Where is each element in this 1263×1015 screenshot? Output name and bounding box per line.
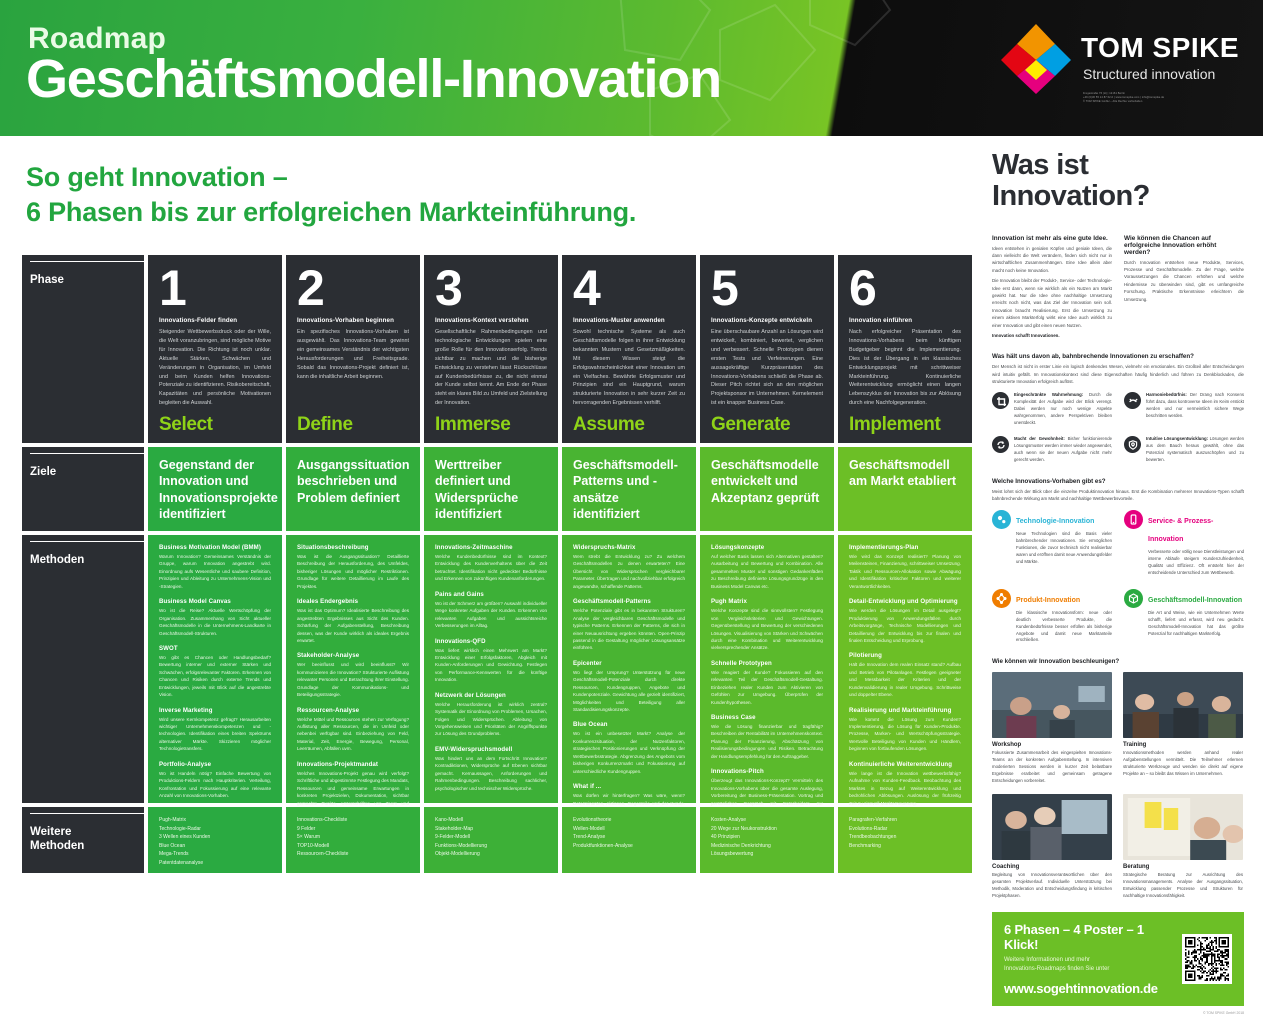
weitere-item: Lösungsbewertung (711, 850, 823, 859)
phase-keyword: Select (159, 414, 213, 436)
table-row-methoden: Methoden Business Motivation Model (BMM)… (22, 535, 972, 803)
service-photo (1123, 672, 1243, 738)
phase-keyword: Assume (573, 414, 645, 436)
innovation-type-name: Geschäftsmodell-Innovation (1148, 597, 1242, 604)
methoden-list: SituationsbeschreibungWas ist die Ausgan… (286, 535, 420, 803)
method-title: What if ... (573, 783, 685, 790)
cta-sub-line2: Innovations-Roadmaps finden Sie unter (1004, 965, 1172, 974)
methoden-list: Innovations-ZeitmaschineWelche Kundenbed… (424, 535, 558, 803)
method-description: Was ist die Ausgangssituation? Detaillie… (297, 553, 409, 590)
ziel-cell-5: Geschäftsmodelle entwickelt und Akzeptan… (700, 447, 834, 531)
method-item: Schnelle PrototypenWie reagiert der Kund… (711, 660, 823, 706)
method-title: Geschäftsmodell-Patterns (573, 598, 685, 605)
barrier-lead: Eingeschränkte Wahrnehmung: (1014, 392, 1083, 397)
innovation-type-description: Die Art und Weise, wie ein Unternehmen W… (1148, 610, 1244, 638)
method-description: Wem strebt die Entwicklung zu? Zu welche… (573, 553, 685, 590)
methoden-cell-4: Widerspruchs-MatrixWem strebt die Entwic… (562, 535, 696, 803)
phase-description: Nach erfolgreicher Präsentation des Inno… (849, 328, 961, 408)
qr-code-icon[interactable] (1182, 934, 1232, 984)
method-description: Welche Kundenbedürfnisse sind im Kontext… (435, 553, 547, 583)
weitere-item: Benchmarking (849, 842, 961, 851)
weitere-item: Patentdatenanalyse (159, 859, 271, 868)
services-grid: WorkshopFokussierte Zusammenarbeit des e… (992, 672, 1244, 900)
weitere-list: Paragrafen-VerfahrenEvolutions-RadarTren… (838, 807, 972, 873)
weitere-item: Mega-Trends (159, 850, 271, 859)
ziel-cell-2: Ausgangssituation beschrieben und Proble… (286, 447, 420, 531)
service-item: CoachingBegleitung von Innovationsverant… (992, 794, 1112, 900)
method-item: SituationsbeschreibungWas ist die Ausgan… (297, 544, 409, 590)
weitere-item: Produktfunktionen-Analyse (573, 842, 685, 851)
intro-two-column: Innovation ist mehr als eine gute Idee. … (992, 223, 1244, 340)
method-item: Portfolio-AnalyseWo ist Handeln nötig? E… (159, 761, 271, 800)
method-item: Ressourcen-AnalyseWelche Mittel und Ress… (297, 707, 409, 753)
copyright-text: © TOM SPIKE GmbH 2018 (992, 1011, 1244, 1015)
method-item: Innovations-ZeitmaschineWelche Kundenbed… (435, 544, 547, 583)
barrier-item: Intuitive Lösungsentwicklung: Lösungen w… (1124, 436, 1244, 464)
weitere-item: Trend-Analyse (573, 833, 685, 842)
cube-icon (1124, 589, 1143, 608)
barrier-text: Harmoniebedürfnis: Der Drang nach Konsen… (1146, 392, 1244, 427)
service-title: Training (1123, 742, 1243, 748)
method-title: Business Case (711, 714, 823, 721)
weitere-item: Kosten-Analyse (711, 816, 823, 825)
methoden-cell-2: SituationsbeschreibungWas ist die Ausgan… (286, 535, 420, 803)
weitere-item: Technologie-Radar (159, 825, 271, 834)
weitere-cell-4: EvolutionstheorieWellen-ModellTrend-Anal… (562, 807, 696, 873)
method-title: Pilotierung (849, 652, 961, 659)
shield-bulb-icon (1124, 436, 1141, 453)
methoden-cell-5: LösungskonzepteAuf welcher Basis lassen … (700, 535, 834, 803)
phase-cell-6: 6Innovation einführenNach erfolgreicher … (838, 255, 972, 443)
methoden-cell-3: Innovations-ZeitmaschineWelche Kundenbed… (424, 535, 558, 803)
method-title: Pugh Matrix (711, 598, 823, 605)
phase-keyword: Immerse (435, 414, 510, 436)
method-description: Was ist das Optimum? Idealisierte Beschr… (297, 607, 409, 644)
method-description: Was hindert uns an dem Fortschritt Innov… (435, 755, 547, 792)
service-item: WorkshopFokussierte Zusammenarbeit des e… (992, 672, 1112, 785)
weitere-item: 20 Wege zur Neukonstruktion (711, 825, 823, 834)
smile-face-icon (1124, 392, 1141, 409)
weitere-cell-2: Innovations-Checkliste9 Felder5× WarumTO… (286, 807, 420, 873)
method-description: Wie werden die Lösungen im Detail ausgel… (849, 607, 961, 644)
phase-cell-1: 1Innovations-Felder findenSteigender Wet… (148, 255, 282, 443)
method-description: Wo ist der Schmerz am größten? Auswahl i… (435, 600, 547, 630)
method-description: Wie lange ist die Innovation wettbewerbs… (849, 770, 961, 807)
method-title: Innovations-Zeitmaschine (435, 544, 547, 551)
service-description: Fokussierte Zusammenarbeit des eingespie… (992, 750, 1112, 785)
weitere-cell-5: Kosten-Analyse20 Wege zur Neukonstruktio… (700, 807, 834, 873)
phase-description: Steigender Wettbewerbsdruck oder der Wil… (159, 328, 271, 408)
table-row-weitere: Weitere Methoden Pugh-MatrixTechnologie-… (22, 807, 972, 873)
service-item: BeratungStrategische Beratung zur Ausric… (1123, 794, 1243, 900)
method-description: Welche Konzepte sind die sinnvollsten? F… (711, 607, 823, 652)
method-item: Pains and GainsWo ist der Schmerz am grö… (435, 591, 547, 630)
phase-subtitle: Innovations-Felder finden (159, 317, 271, 324)
barrier-text: Intuitive Lösungsentwicklung: Lösungen w… (1146, 436, 1244, 464)
molecule-icon (992, 589, 1011, 608)
cta-headline: 6 Phasen – 4 Poster – 1 Klick! (1004, 922, 1172, 952)
weitere-item: 40 Prinzipien (711, 833, 823, 842)
method-title: Realisierung und Markteinführung (849, 707, 961, 714)
brand-block: TOM SPIKE Structured innovation Fregestr… (999, 18, 1249, 126)
table-row-phase: Phase 1Innovations-Felder findenSteigend… (22, 255, 972, 443)
weitere-item: Evolutions-Radar (849, 825, 961, 834)
weitere-item: Funktions-Modellierung (435, 842, 547, 851)
phase-description: Ein spezifisches Innovations-Vorhaben is… (297, 328, 409, 381)
method-description: Warum Innovation? Gemeinsames Verständni… (159, 553, 271, 590)
method-title: Detail-Entwicklung und Optimierung (849, 598, 961, 605)
ziel-text: Geschäftsmodell am Markt etabliert (838, 447, 972, 531)
method-title: Portfolio-Analyse (159, 761, 271, 768)
innovation-type-name: Service- & Prozess-Innovation (1148, 518, 1213, 543)
table-row-ziele: Ziele Gegenstand der Innovation und Inno… (22, 447, 972, 531)
innovation-type-item: Service- & Prozess-InnovationVerbesserte… (1124, 510, 1244, 577)
weitere-list: Kosten-Analyse20 Wege zur Neukonstruktio… (700, 807, 834, 873)
method-description: Wie reagiert der Kunde? Fokussieren auf … (711, 669, 823, 706)
weitere-cell-3: Kano-ModellStakeholder-Map9-Felder-Model… (424, 807, 558, 873)
barrier-text: Eingeschränkte Wahrnehmung: Durch die Ko… (1014, 392, 1112, 427)
innovation-types-grid: Technologie-InnovationNeue Technologien … (992, 510, 1244, 645)
method-title: Business Model Canvas (159, 598, 271, 605)
phase-number: 4 (573, 265, 685, 311)
weitere-list: Pugh-MatrixTechnologie-Radar3 Wellen ein… (148, 807, 282, 873)
phase-number: 5 (711, 265, 823, 311)
row-label-phase: Phase (30, 261, 144, 295)
cta-url[interactable]: www.sogehtinnovation.de (1004, 981, 1172, 996)
method-title: Business Motivation Model (BMM) (159, 544, 271, 551)
method-description: Auf welcher Basis lassen sich Alternativ… (711, 553, 823, 590)
weitere-item: 5× Warum (297, 833, 409, 842)
weitere-item: TOP10-Modell (297, 842, 409, 851)
method-item: Pugh MatrixWelche Konzepte sind die sinn… (711, 598, 823, 652)
phase-subtitle: Innovations-Vorhaben beginnen (297, 317, 409, 324)
method-description: Wie kommt die Lösung zum Kunden? Impleme… (849, 716, 961, 753)
method-title: Ideales Endergebnis (297, 598, 409, 605)
method-item: LösungskonzepteAuf welcher Basis lassen … (711, 544, 823, 590)
method-item: EpicenterWo liegt der Ursprung? Unterstü… (573, 660, 685, 714)
method-item: Detail-Entwicklung und OptimierungWie we… (849, 598, 961, 644)
intro-left-p2: Die Innovation bleibt der Produkt-, Serv… (992, 277, 1112, 329)
ziele-cells: Gegenstand der Innovation und Innovation… (148, 447, 972, 531)
barrier-lead: Harmoniebedürfnis: (1146, 392, 1187, 397)
cta-banner[interactable]: 6 Phasen – 4 Poster – 1 Klick! Weitere I… (992, 912, 1244, 1006)
weitere-item: 3 Wellen eines Kunden (159, 833, 271, 842)
ziel-text: Ausgangssituation beschrieben und Proble… (286, 447, 420, 531)
ziel-text: Geschäftsmodelle entwickelt und Akzeptan… (700, 447, 834, 531)
method-title: Blue Ocean (573, 721, 685, 728)
ziel-cell-6: Geschäftsmodell am Markt etabliert (838, 447, 972, 531)
method-description: Wo ist die Reise? Aktuelle Wertschöpfung… (159, 607, 271, 637)
intro-left-heading: Innovation ist mehr als eine gute Idee. (992, 235, 1112, 242)
method-title: Widerspruchs-Matrix (573, 544, 685, 551)
method-title: Lösungskonzepte (711, 544, 823, 551)
gears-icon (992, 510, 1011, 529)
service-description: Begleitung von Innovationsverantwortlich… (992, 872, 1112, 900)
method-description: Wird unsere Kernkompetenz gefragt? Herau… (159, 716, 271, 753)
method-description: Welche Potenziale gibt es in bekannten S… (573, 607, 685, 652)
weitere-cell-1: Pugh-MatrixTechnologie-Radar3 Wellen ein… (148, 807, 282, 873)
innovation-type-item: Technologie-InnovationNeue Technologien … (992, 510, 1112, 577)
barriers-heading: Was hält uns davon ab, bahnbrechende Inn… (992, 353, 1244, 360)
service-title: Beratung (1123, 864, 1243, 870)
barriers-grid: Eingeschränkte Wahrnehmung: Durch die Ko… (992, 392, 1244, 464)
method-description: Wie wird das Konzept realisiert? Planung… (849, 553, 961, 590)
weitere-item: Evolutionstheorie (573, 816, 685, 825)
methoden-list: Implementierungs-PlanWie wird das Konzep… (838, 535, 972, 803)
service-description: Strategische Beratung zur Ausrichtung de… (1123, 872, 1243, 900)
weitere-item: 9-Felder-Modell (435, 833, 547, 842)
method-title: Innovations-Pitch (711, 768, 823, 775)
method-item: PilotierungHält die Innovation dem reale… (849, 652, 961, 698)
ziel-cell-3: Werttreiber definiert und Widersprüche i… (424, 447, 558, 531)
barrier-item: Harmoniebedürfnis: Der Drang nach Konsen… (1124, 392, 1244, 427)
method-item: Stakeholder-AnalyseWer beeinflusst und w… (297, 652, 409, 698)
service-title: Coaching (992, 864, 1112, 870)
method-description: Hält die Innovation dem realen Einsatz s… (849, 661, 961, 698)
method-item: Widerspruchs-MatrixWem strebt die Entwic… (573, 544, 685, 590)
method-item: Kontinuierliche WeiterentwicklungWie lan… (849, 761, 961, 807)
weitere-item: Blue Ocean (159, 842, 271, 851)
method-description: Wo ist Handeln nötig? Einfache Bewertung… (159, 770, 271, 800)
methoden-list: Widerspruchs-MatrixWem strebt die Entwic… (562, 535, 696, 803)
page-title: Geschäftsmodell-Innovation (26, 52, 721, 106)
types-intro: Meist lohnt sich der Blick über die einz… (992, 488, 1244, 503)
method-item: Inverse MarketingWird unsere Kernkompete… (159, 707, 271, 753)
weitere-list: EvolutionstheorieWellen-ModellTrend-Anal… (562, 807, 696, 873)
phase-cell-3: 3Innovations-Kontext verstehenGesellscha… (424, 255, 558, 443)
phase-number: 1 (159, 265, 271, 311)
innovation-type-name: Produkt-Innovation (1016, 597, 1080, 604)
method-title: EMV-Widerspruchsmodell (435, 746, 547, 753)
weitere-item: Medizinische Denkrichtung (711, 842, 823, 851)
intro-right-p: Durch Innovation entstehen neue Produkte… (1124, 259, 1244, 303)
barrier-item: Eingeschränkte Wahrnehmung: Durch die Ko… (992, 392, 1112, 427)
method-description: Welche Mittel und Ressourcen stehen zur … (297, 716, 409, 753)
method-title: Implementierungs-Plan (849, 544, 961, 551)
method-item: EMV-WiderspruchsmodellWas hindert uns an… (435, 746, 547, 792)
methoden-list: LösungskonzepteAuf welcher Basis lassen … (700, 535, 834, 803)
innovation-type-description: Neue Technologien sind die Basis vieler … (1016, 531, 1112, 566)
phase-number: 6 (849, 265, 961, 311)
method-title: Schnelle Prototypen (711, 660, 823, 667)
crop-frame-icon (992, 392, 1009, 409)
service-description: Innovationsmethoden werden anhand realer… (1123, 750, 1243, 778)
method-item: Business Model CanvasWo ist die Reise? A… (159, 598, 271, 637)
mobile-service-icon (1124, 510, 1143, 529)
method-item: Ideales EndergebnisWas ist das Optimum? … (297, 598, 409, 644)
method-title: Ressourcen-Analyse (297, 707, 409, 714)
method-title: Epicenter (573, 660, 685, 667)
phase-cell-2: 2Innovations-Vorhaben beginnenEin spezif… (286, 255, 420, 443)
method-title: Kontinuierliche Weiterentwicklung (849, 761, 961, 768)
weitere-list: Innovations-Checkliste9 Felder5× WarumTO… (286, 807, 420, 873)
brand-contact: Fregestraße 76 (H) | 12161 Berlin +49 (0… (1083, 92, 1247, 104)
phase-number: 2 (297, 265, 409, 311)
phase-description: Sowohl technische Systeme als auch Gesch… (573, 328, 685, 408)
method-description: Wo ist ein unbesetzter Markt? Analyse de… (573, 730, 685, 775)
method-item: Innovations-QFDWas liefert wirklich eine… (435, 638, 547, 684)
row-label-methoden-wrap: Methoden (22, 535, 144, 803)
methoden-cells: Business Motivation Model (BMM)Warum Inn… (148, 535, 972, 803)
innovation-type-description: Die klassische Innovationsform: neue ode… (1016, 610, 1112, 645)
roadmap-table: Phase 1Innovations-Felder findenSteigend… (22, 255, 972, 877)
service-photo (992, 794, 1112, 860)
method-item: SWOTWo gibt es Chancen oder Handlungsbed… (159, 645, 271, 699)
cta-text: 6 Phasen – 4 Poster – 1 Klick! Weitere I… (1004, 922, 1172, 996)
innovation-type-item: Geschäftsmodell-InnovationDie Art und We… (1124, 589, 1244, 645)
service-item: TrainingInnovationsmethoden werden anhan… (1123, 672, 1243, 785)
recycle-arrows-icon (992, 436, 1009, 453)
phase-keyword: Define (297, 414, 353, 436)
method-item: Business CaseWie die Lösung finanzierbar… (711, 714, 823, 760)
method-description: Wo gibt es Chancen oder Handlungsbedarf?… (159, 654, 271, 699)
ziel-text: Werttreiber definiert und Widersprüche i… (424, 447, 558, 531)
section-headline: So geht Innovation – 6 Phasen bis zur er… (26, 160, 906, 229)
row-label-ziele: Ziele (30, 453, 144, 487)
weitere-item: Ressourcen-Checkliste (297, 850, 409, 859)
phase-description: Eine überschaubare Anzahl an Lösungen wi… (711, 328, 823, 408)
method-title: Inverse Marketing (159, 707, 271, 714)
ziel-cell-4: Geschäftsmodell-Patterns und -ansätze id… (562, 447, 696, 531)
types-heading: Welche Innovations-Vorhaben gibt es? (992, 478, 1244, 485)
method-item: Realisierung und MarkteinführungWie komm… (849, 707, 961, 753)
method-title: Pains and Gains (435, 591, 547, 598)
ziel-text: Geschäftsmodell-Patterns und -ansätze id… (562, 447, 696, 531)
intro-right: Wie können die Chancen auf erfolgreiche … (1124, 223, 1244, 340)
method-title: SWOT (159, 645, 271, 652)
phase-cell-5: 5Innovations-Konzepte entwickelnEine übe… (700, 255, 834, 443)
row-label-weitere-wrap: Weitere Methoden (22, 807, 144, 873)
right-column: Was ist Innovation? Innovation ist mehr … (992, 150, 1244, 1015)
weitere-item: Kano-Modell (435, 816, 547, 825)
cta-sub-line1: Weitere Informationen und mehr (1004, 956, 1172, 965)
weitere-item: 9 Felder (297, 825, 409, 834)
methoden-list: Business Motivation Model (BMM)Warum Inn… (148, 535, 282, 803)
barrier-text: Macht der Gewohnheit: Bisher funktionier… (1014, 436, 1112, 464)
method-item: Implementierungs-PlanWie wird das Konzep… (849, 544, 961, 590)
phase-subtitle: Innovation einführen (849, 317, 961, 324)
service-photo (992, 672, 1112, 738)
method-description: Welche Herausforderung ist wirklich zent… (435, 701, 547, 738)
method-item: Netzwerk der LösungenWelche Herausforder… (435, 692, 547, 738)
row-label-phase-wrap: Phase (22, 255, 144, 443)
intro-left: Innovation ist mehr als eine gute Idee. … (992, 223, 1112, 340)
poster-root: Roadmap Geschäftsmodell-Innovation TOM S… (0, 0, 1263, 893)
row-label-ziele-wrap: Ziele (22, 447, 144, 531)
method-description: Was liefert wirklich einen Mehrwert am M… (435, 647, 547, 684)
weitere-cells: Pugh-MatrixTechnologie-Radar3 Wellen ein… (148, 807, 972, 873)
accelerate-heading: Wie können wir Innovation beschleunigen? (992, 658, 1244, 665)
phase-keyword: Generate (711, 414, 790, 436)
weitere-cell-6: Paragrafen-VerfahrenEvolutions-RadarTren… (838, 807, 972, 873)
phase-number: 3 (435, 265, 547, 311)
method-description: Wo liegt der Ursprung? Unterstützung für… (573, 669, 685, 714)
weitere-item: Wellen-Modell (573, 825, 685, 834)
weitere-item: Trendbeobachtungen (849, 833, 961, 842)
weitere-item: Objekt-Modellierung (435, 850, 547, 859)
brand-tagline: Structured innovation (1083, 66, 1215, 82)
phase-description: Gesellschaftliche Rahmenbedingungen und … (435, 328, 547, 408)
method-item: Geschäftsmodell-PatternsWelche Potenzial… (573, 598, 685, 652)
ziel-text: Gegenstand der Innovation und Innovation… (148, 447, 282, 531)
barriers-intro: Der Mensch ist nicht in erster Linie ein… (992, 363, 1244, 385)
innovation-type-item: Produkt-InnovationDie klassische Innovat… (992, 589, 1112, 645)
brand-name: TOM SPIKE (1081, 32, 1239, 64)
method-item: Business Motivation Model (BMM)Warum Inn… (159, 544, 271, 590)
method-title: Innovations-QFD (435, 638, 547, 645)
method-item: Blue OceanWo ist ein unbesetzter Markt? … (573, 721, 685, 775)
method-title: Innovations-Projektmandat (297, 761, 409, 768)
intro-left-p3: Innovation schafft Innovationen. (992, 332, 1112, 339)
weitere-item: Stakeholder-Map (435, 825, 547, 834)
row-label-methoden: Methoden (30, 541, 144, 575)
phase-keyword: Implement (849, 414, 940, 436)
method-title: Stakeholder-Analyse (297, 652, 409, 659)
intro-right-heading: Wie können die Chancen auf erfolgreiche … (1124, 235, 1244, 256)
innovation-type-description: Verbesserte oder völlig neue Dienstleist… (1148, 549, 1244, 577)
method-description: Wer beeinflusst und wird beeinflusst? Wi… (297, 661, 409, 698)
row-label-weitere: Weitere Methoden (30, 813, 144, 862)
method-title: Situationsbeschreibung (297, 544, 409, 551)
weitere-list: Kano-ModellStakeholder-Map9-Felder-Model… (424, 807, 558, 873)
service-title: Workshop (992, 742, 1112, 748)
barrier-item: Macht der Gewohnheit: Bisher funktionier… (992, 436, 1112, 464)
phase-subtitle: Innovations-Muster anwenden (573, 317, 685, 324)
weitere-item: Innovations-Checkliste (297, 816, 409, 825)
phase-subtitle: Innovations-Konzepte entwickeln (711, 317, 823, 324)
innovation-type-name: Technologie-Innovation (1016, 518, 1094, 525)
weitere-item: Pugh-Matrix (159, 816, 271, 825)
method-description: Wie die Lösung finanzierbar und tragfähi… (711, 723, 823, 760)
phase-cells: 1Innovations-Felder findenSteigender Wet… (148, 255, 972, 443)
intro-left-p1: Ideen entstehen in genialen Köpfen und g… (992, 245, 1112, 275)
phase-cell-4: 4Innovations-Muster anwendenSowohl techn… (562, 255, 696, 443)
right-title: Was ist Innovation? (992, 150, 1244, 213)
method-title: Netzwerk der Lösungen (435, 692, 547, 699)
weitere-item: Paragrafen-Verfahren (849, 816, 961, 825)
tom-spike-logo-icon (999, 22, 1073, 96)
ziel-cell-1: Gegenstand der Innovation und Innovation… (148, 447, 282, 531)
poster-header: Roadmap Geschäftsmodell-Innovation TOM S… (0, 0, 1263, 136)
methoden-cell-6: Implementierungs-PlanWie wird das Konzep… (838, 535, 972, 803)
barrier-lead: Macht der Gewohnheit: (1014, 436, 1065, 441)
service-photo (1123, 794, 1243, 860)
barrier-lead: Intuitive Lösungsentwicklung: (1146, 436, 1208, 441)
methoden-cell-1: Business Motivation Model (BMM)Warum Inn… (148, 535, 282, 803)
phase-subtitle: Innovations-Kontext verstehen (435, 317, 547, 324)
